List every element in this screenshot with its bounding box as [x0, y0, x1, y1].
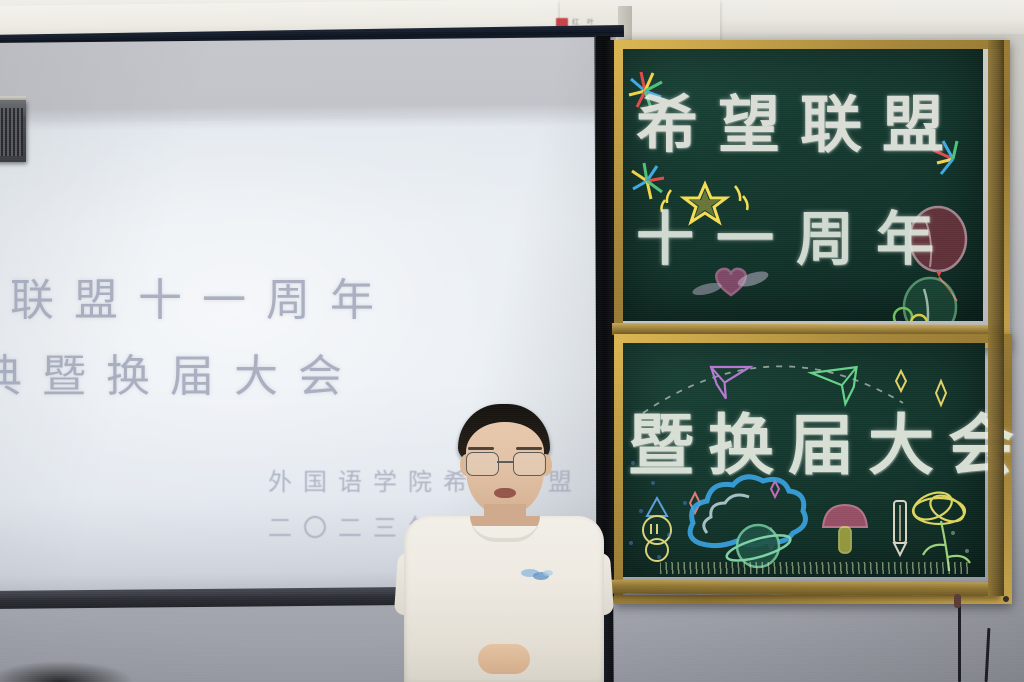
classroom-scene: 红 叶 HONGYE 联盟十一周年 典暨换届大会 外国语学院希望联盟 二〇二三年	[0, 0, 1024, 682]
glasses-bridge	[497, 461, 513, 463]
student-presenter	[396, 404, 612, 682]
blackboard-bottom-line-1: 暨换届大会	[628, 392, 1024, 488]
hanging-cable	[958, 596, 961, 682]
foreground-shadow	[0, 652, 150, 682]
eyebrow-right	[516, 447, 542, 450]
tshirt-logo-icon	[520, 568, 554, 582]
clasped-hands	[478, 644, 530, 674]
wall-speaker	[0, 100, 26, 162]
eyebrow-left	[468, 447, 494, 450]
slide-title-line-1: 联盟十一周年	[10, 264, 394, 328]
chalk-tray	[610, 580, 1000, 597]
mouth	[494, 488, 516, 498]
wall-screw	[1003, 596, 1009, 602]
cable-connector	[954, 594, 961, 608]
lens-left	[466, 452, 499, 476]
blackboard-top-line-2: 十一周年	[636, 192, 956, 276]
lens-right	[513, 452, 546, 476]
speaker-grill-icon	[0, 108, 23, 156]
glasses-icon	[464, 452, 546, 474]
grass-doodle-icon	[660, 562, 970, 574]
blackboard-top-line-1: 希望联盟	[636, 74, 964, 164]
slide-title-line-2: 典暨换届大会	[0, 340, 362, 404]
blackboard-right-post	[988, 40, 1004, 596]
